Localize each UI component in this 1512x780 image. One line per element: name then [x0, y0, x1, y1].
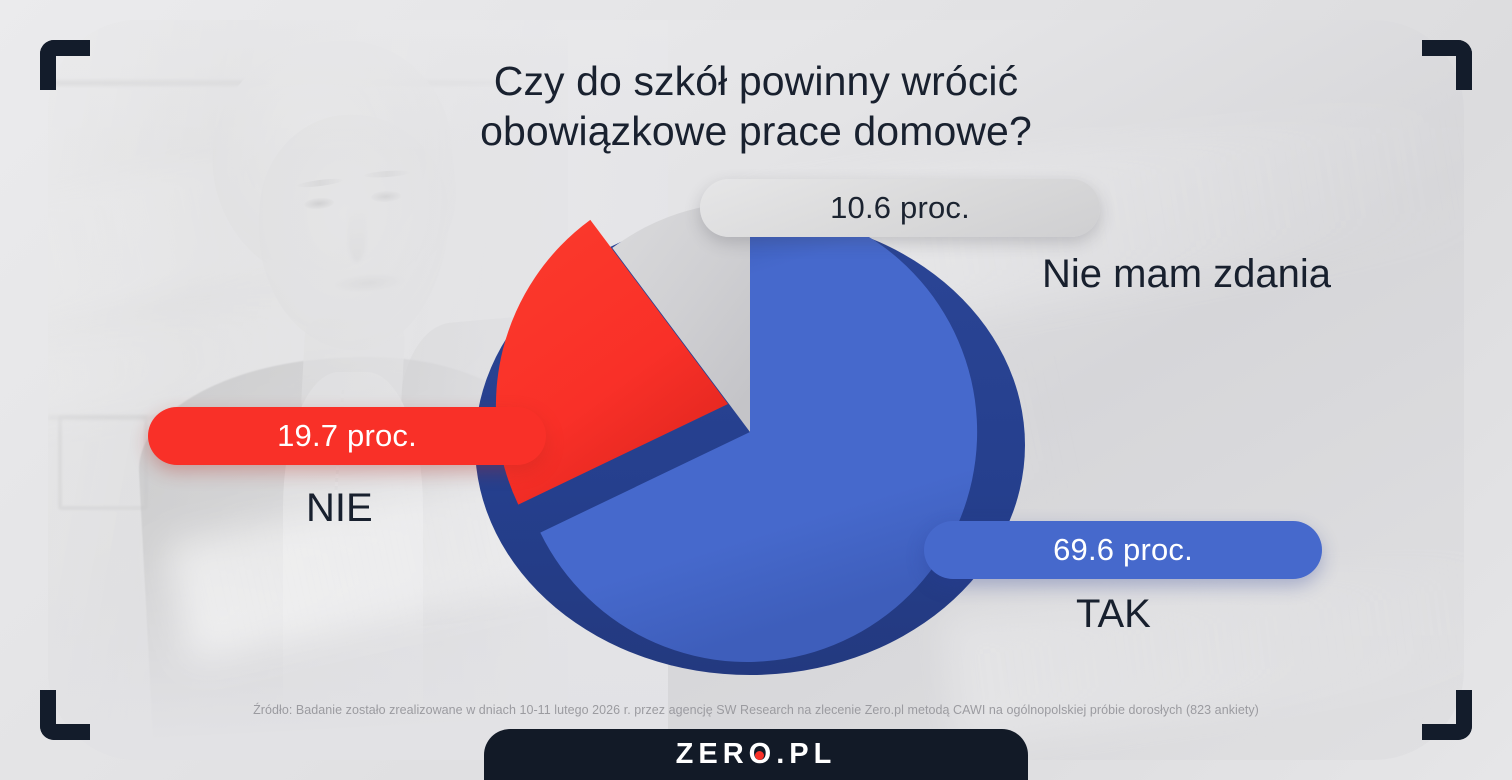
- logo-text-part1: ZER: [676, 738, 749, 771]
- logo-o-wrap: O: [749, 738, 777, 771]
- logo-bar: ZERO.PL: [484, 729, 1028, 780]
- value-pill-nie-text: 19.7 proc.: [277, 418, 417, 454]
- infographic-canvas: Czy do szkół powinny wrócić obowiązkowe …: [0, 0, 1512, 780]
- logo-text-part3: .PL: [776, 738, 836, 771]
- title-line-1: Czy do szkół powinny wrócić: [0, 56, 1512, 106]
- logo-red-dot-icon: [755, 751, 764, 760]
- value-pill-tak-text: 69.6 proc.: [1053, 532, 1193, 568]
- title-line-2: obowiązkowe prace domowe?: [0, 106, 1512, 156]
- value-pill-nie[interactable]: 19.7 proc.: [148, 407, 546, 465]
- photo-nose: [348, 210, 366, 262]
- value-pill-tak[interactable]: 69.6 proc.: [924, 521, 1322, 579]
- value-pill-nie-mam-zdania[interactable]: 10.6 proc.: [700, 179, 1100, 237]
- page-title: Czy do szkół powinny wrócić obowiązkowe …: [0, 56, 1512, 156]
- category-label-nie-mam-zdania: Nie mam zdania: [1042, 252, 1331, 297]
- pie-chart-svg: [474, 182, 1030, 682]
- pie-chart: [474, 182, 1030, 682]
- source-note: Źródło: Badanie zostało zrealizowane w d…: [0, 703, 1512, 717]
- photo-wall-frame: [58, 415, 148, 510]
- value-pill-nie-mam-zdania-text: 10.6 proc.: [830, 190, 970, 226]
- zero-pl-logo[interactable]: ZERO.PL: [676, 738, 837, 771]
- category-label-nie: NIE: [306, 486, 373, 531]
- category-label-tak: TAK: [1076, 592, 1151, 637]
